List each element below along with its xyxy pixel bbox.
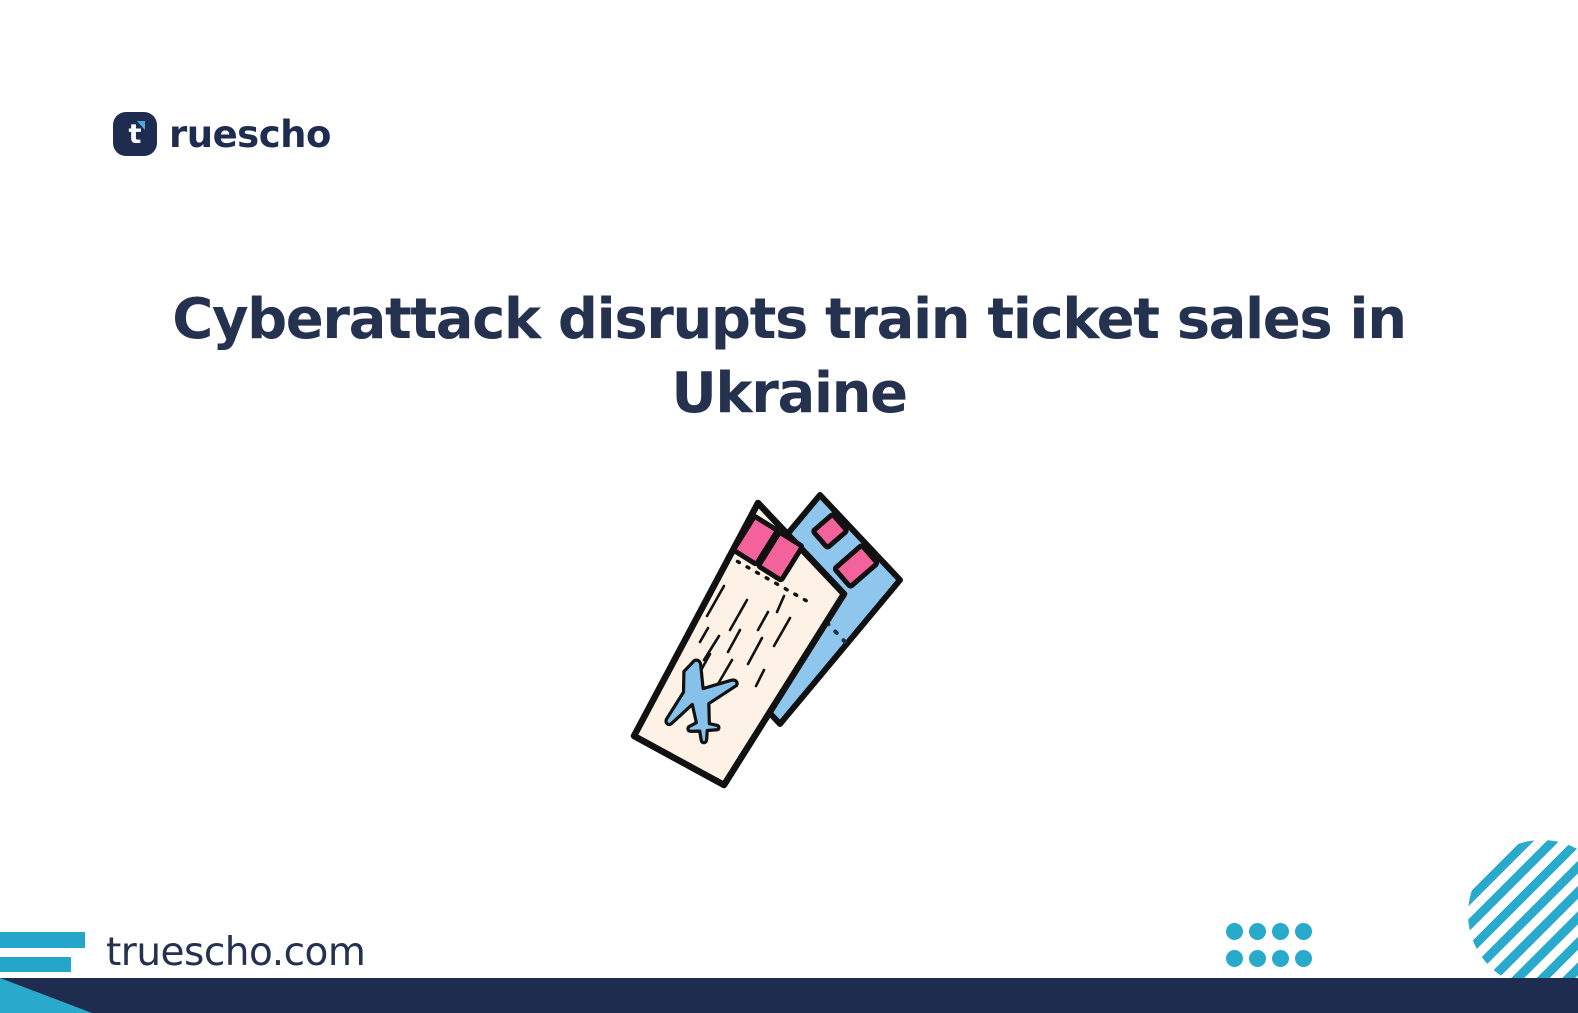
decorative-dot	[1226, 950, 1243, 967]
footer-bottom-bar	[0, 978, 1578, 1013]
decorative-dot	[1295, 923, 1312, 940]
footer-bar-bottom	[0, 957, 71, 972]
footer-website-url[interactable]: truescho.com	[106, 928, 365, 979]
brand-header[interactable]: t ruescho	[113, 112, 331, 156]
decorative-dot	[1272, 923, 1289, 940]
brand-wordmark: ruescho	[169, 116, 331, 153]
decorative-dot	[1249, 923, 1266, 940]
decorative-dot	[1226, 923, 1243, 940]
decorative-dot	[1249, 950, 1266, 967]
footer-corner-accent	[0, 978, 92, 1013]
dot-grid-decoration	[1226, 923, 1318, 977]
page-title: Cyberattack disrupts train ticket sales …	[0, 283, 1578, 432]
footer-bar-decoration	[0, 932, 90, 978]
tickets-svg	[612, 488, 922, 793]
striped-circle-decoration	[1468, 840, 1578, 988]
decorative-dot	[1272, 950, 1289, 967]
logo-letter-t: t	[113, 112, 157, 156]
footer-bar-top	[0, 932, 85, 948]
decorative-dot	[1295, 950, 1312, 967]
two-tickets-illustration	[612, 488, 922, 793]
truescho-logo-icon: t	[113, 112, 157, 156]
